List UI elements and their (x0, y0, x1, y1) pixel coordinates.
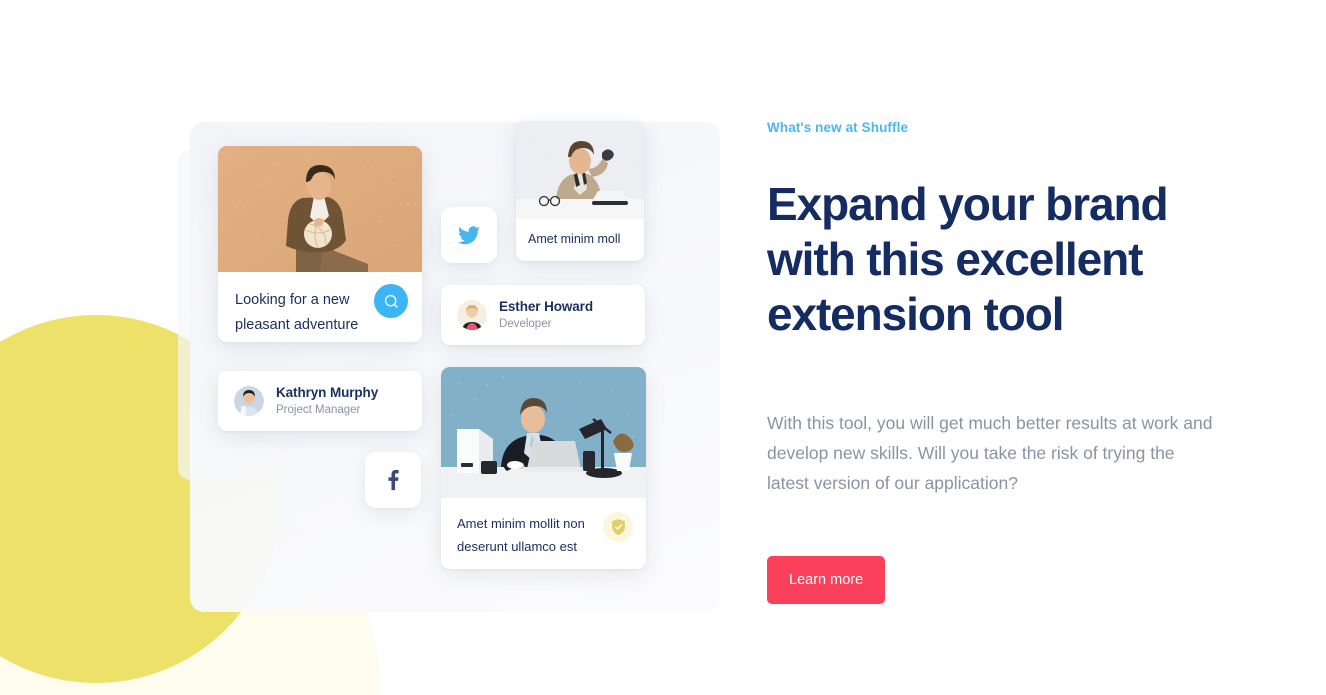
avatar (234, 386, 264, 416)
facebook-button[interactable] (365, 452, 421, 508)
card-kathryn-text: Kathryn Murphy Project Manager (276, 385, 378, 418)
person-role: Project Manager (276, 402, 378, 418)
card-adventure-body: Looking for a new pleasant adventure (218, 272, 422, 342)
twitter-icon (458, 226, 480, 245)
avatar-esther (457, 300, 487, 330)
page-title: Expand your brand with this excellent ex… (767, 177, 1197, 342)
facebook-icon (388, 469, 399, 491)
card-amet-minim-moll[interactable]: Amet minim moll (516, 121, 644, 261)
card-esther-howard[interactable]: Esther Howard Developer (441, 285, 645, 345)
office-photo (441, 367, 646, 498)
hero-section: Looking for a new pleasant adventure Kat… (0, 0, 1326, 695)
avatar-kathryn (234, 386, 264, 416)
twitter-button[interactable] (441, 207, 497, 263)
card-adventure[interactable]: Looking for a new pleasant adventure (218, 146, 422, 342)
moll-photo (516, 121, 644, 219)
hero-paragraph: With this tool, you will get much better… (767, 408, 1215, 498)
person-name: Esther Howard (499, 299, 593, 315)
card-big-body: Amet minim mollit non deserunt ullamco e… (441, 498, 646, 569)
person-name: Kathryn Murphy (276, 385, 378, 401)
shield-check-glyph (611, 519, 626, 535)
card-moll-body: Amet minim moll (516, 219, 644, 261)
search-glyph (383, 293, 400, 310)
learn-more-button[interactable]: Learn more (767, 556, 885, 604)
card-esther-text: Esther Howard Developer (499, 299, 593, 332)
avatar (457, 300, 487, 330)
shield-check-icon[interactable] (603, 512, 633, 542)
card-big-title: Amet minim mollit non deserunt ullamco e… (457, 512, 585, 558)
eyebrow-label: What's new at Shuffle (767, 120, 1237, 135)
card-moll-title: Amet minim moll (528, 231, 632, 247)
card-adventure-title: Looking for a new pleasant adventure (235, 288, 365, 338)
person-role: Developer (499, 316, 593, 332)
hero-content: What's new at Shuffle Expand your brand … (767, 120, 1237, 604)
card-kathryn-murphy[interactable]: Kathryn Murphy Project Manager (218, 371, 422, 431)
search-icon[interactable] (374, 284, 408, 318)
adventure-photo (218, 146, 422, 272)
card-amet-minim-mollit[interactable]: Amet minim mollit non deserunt ullamco e… (441, 367, 646, 569)
